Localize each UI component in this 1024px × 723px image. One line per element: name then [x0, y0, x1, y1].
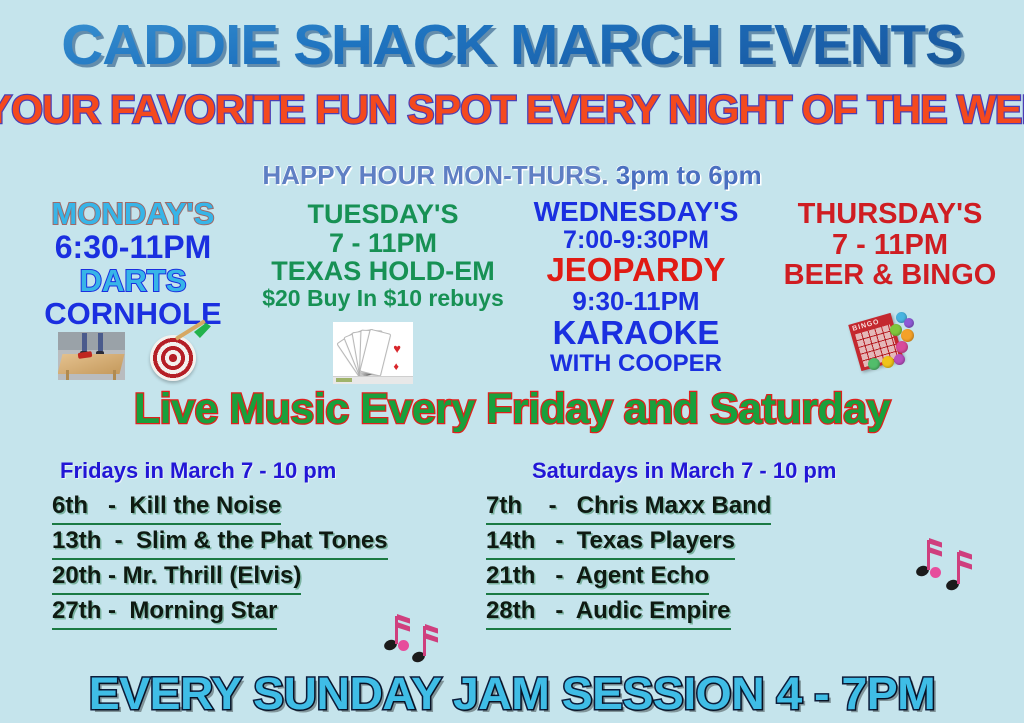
music-notes-icon-right — [916, 538, 986, 600]
wednesday-activity-karaoke: KARAOKE — [512, 316, 760, 351]
thursday-heading: THURSDAY'S — [762, 199, 1018, 230]
thursday-activity: BEER & BINGO — [762, 260, 1018, 291]
saturday-entry-4: 28th - Audic Empire — [486, 595, 731, 630]
saturday-schedule-list: 7th - Chris Maxx Band 14th - Texas Playe… — [486, 490, 946, 630]
saturday-entry-3: 21th - Agent Echo — [486, 560, 709, 595]
monday-heading: MONDAY'S — [8, 198, 258, 231]
live-music-headline: Live Music Every Friday and Saturday — [0, 385, 1024, 434]
dartboard-icon — [150, 325, 212, 383]
event-flyer: CADDIE SHACK MARCH EVENTS YOUR FAVORITE … — [0, 0, 1024, 723]
tuesday-buyin-note: $20 Buy In $10 rebuys — [258, 286, 508, 310]
day-column-wednesday: WEDNESDAY'S 7:00-9:30PM JEOPARDY 9:30-11… — [512, 197, 760, 376]
tuesday-heading: TUESDAY'S — [258, 200, 508, 229]
friday-entry-4: 27th - Morning Star — [52, 595, 277, 630]
saturday-schedule-header: Saturdays in March 7 - 10 pm — [486, 458, 946, 484]
day-column-monday: MONDAY'S 6:30-11PM DARTS CORNHOLE — [8, 198, 258, 330]
saturday-entry-1: 7th - Chris Maxx Band — [486, 490, 771, 525]
list-item: 7th - Chris Maxx Band — [486, 490, 946, 525]
happy-hour-line: HAPPY HOUR MON-THURS. 3pm to 6pm — [0, 160, 1024, 191]
list-item: 20th - Mr. Thrill (Elvis) — [52, 560, 472, 595]
saturday-schedule: Saturdays in March 7 - 10 pm 7th - Chris… — [486, 458, 946, 630]
happy-hour-hours: 3pm to 6pm — [616, 160, 762, 190]
friday-schedule: Fridays in March 7 - 10 pm 6th - Kill th… — [52, 458, 472, 630]
saturday-entry-2: 14th - Texas Players — [486, 525, 735, 560]
friday-schedule-header: Fridays in March 7 - 10 pm — [52, 458, 472, 484]
thursday-time: 7 - 11PM — [762, 230, 1018, 261]
music-notes-icon-left — [382, 612, 450, 670]
wednesday-activity-jeopardy: JEOPARDY — [512, 253, 760, 288]
monday-activity-cornhole: CORNHOLE — [8, 298, 258, 331]
page-subtitle: YOUR FAVORITE FUN SPOT EVERY NIGHT OF TH… — [0, 88, 1024, 133]
day-column-tuesday: TUESDAY'S 7 - 11PM TEXAS HOLD-EM $20 Buy… — [258, 200, 508, 310]
page-title: CADDIE SHACK MARCH EVENTS — [0, 12, 1024, 78]
friday-entry-2: 13th - Slim & the Phat Tones — [52, 525, 388, 560]
playing-cards-icon: ♥ ♦ — [333, 322, 413, 384]
tuesday-activity: TEXAS HOLD-EM — [258, 257, 508, 286]
happy-hour-label: HAPPY HOUR MON-THURS. — [262, 160, 608, 190]
friday-entry-1: 6th - Kill the Noise — [52, 490, 281, 525]
wednesday-time-1: 7:00-9:30PM — [512, 227, 760, 254]
day-column-thursday: THURSDAY'S 7 - 11PM BEER & BINGO — [762, 199, 1018, 291]
monday-time: 6:30-11PM — [8, 231, 258, 265]
cornhole-icon — [58, 332, 125, 380]
friday-entry-3: 20th - Mr. Thrill (Elvis) — [52, 560, 301, 595]
wednesday-heading: WEDNESDAY'S — [512, 197, 760, 227]
wednesday-time-2: 9:30-11PM — [512, 288, 760, 316]
list-item: 6th - Kill the Noise — [52, 490, 472, 525]
list-item: 21th - Agent Echo — [486, 560, 946, 595]
monday-activity-darts: DARTS — [8, 265, 258, 298]
list-item: 28th - Audic Empire — [486, 595, 946, 630]
list-item: 14th - Texas Players — [486, 525, 946, 560]
sunday-jam-banner: EVERY SUNDAY JAM SESSION 4 - 7PM — [0, 668, 1024, 720]
wednesday-host: WITH COOPER — [512, 351, 760, 376]
bingo-card-icon: BINGO — [852, 312, 920, 374]
friday-schedule-list: 6th - Kill the Noise 13th - Slim & the P… — [52, 490, 472, 630]
list-item: 13th - Slim & the Phat Tones — [52, 525, 472, 560]
tuesday-time: 7 - 11PM — [258, 229, 508, 258]
